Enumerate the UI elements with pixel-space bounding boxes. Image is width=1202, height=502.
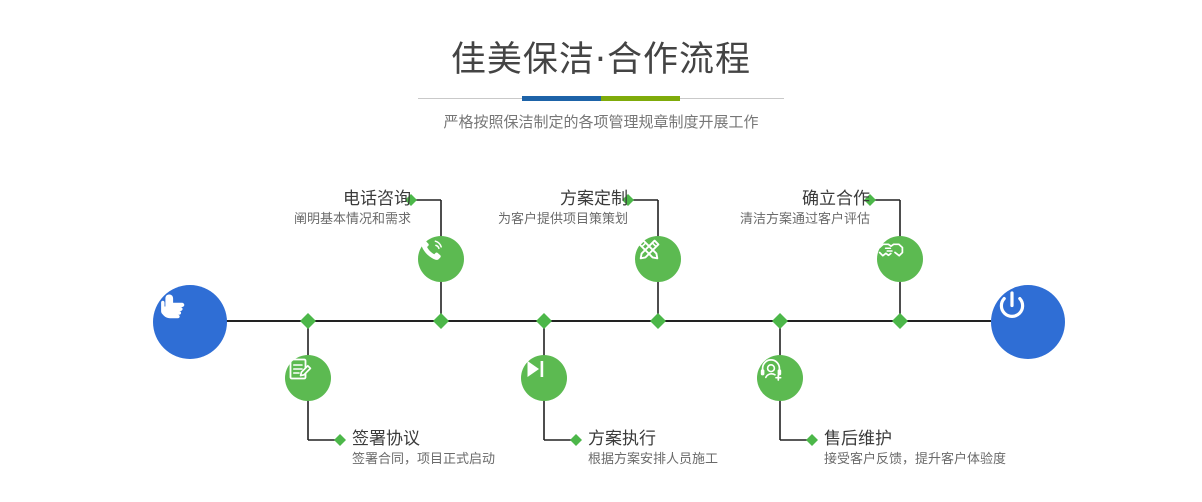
step-icon-phone-consultation[interactable] xyxy=(418,236,464,282)
step-desc: 阐明基本情况和需求 xyxy=(245,210,411,230)
spine-diamond-3 xyxy=(536,313,552,329)
spine-diamond-1 xyxy=(300,313,316,329)
label-diamond-6 xyxy=(806,434,818,446)
spine-diamond-6 xyxy=(892,313,908,329)
step-title: 售后维护 xyxy=(824,428,1074,450)
infographic-root: 佳美保洁·合作流程 严格按照保洁制定的各项管理规章制度开展工作 xyxy=(0,0,1202,502)
spine-diamond-4 xyxy=(650,313,666,329)
step-label-after-sales-support: 售后维护 接受客户反馈，提升客户体验度 xyxy=(824,428,1074,470)
step-label-plan-execution: 方案执行 根据方案安排人员施工 xyxy=(588,428,798,470)
spine-diamond-2 xyxy=(433,313,449,329)
spine-diamond-5 xyxy=(772,313,788,329)
step-desc: 接受客户反馈，提升客户体验度 xyxy=(824,450,1074,470)
flow-end-node[interactable] xyxy=(991,285,1065,359)
step-label-plan-customization: 方案定制 为客户提供项目策策划 xyxy=(455,188,628,230)
pencil-ruler-icon xyxy=(635,236,663,264)
flow-connectors xyxy=(0,0,1202,502)
step-title: 签署协议 xyxy=(352,428,572,450)
flow-start-node[interactable] xyxy=(153,285,227,359)
step-title: 方案定制 xyxy=(455,188,628,210)
play-next-icon xyxy=(521,355,549,383)
step-title: 方案执行 xyxy=(588,428,798,450)
step-desc: 清洁方案通过客户评估 xyxy=(706,210,870,230)
step-icon-establish-cooperation[interactable] xyxy=(877,236,923,282)
step-title: 确立合作 xyxy=(706,188,870,210)
step-label-sign-agreement: 签署协议 签署合同，项目正式启动 xyxy=(352,428,572,470)
handshake-icon xyxy=(877,236,905,264)
hand-pointing-icon xyxy=(153,285,195,327)
step-label-establish-cooperation: 确立合作 清洁方案通过客户评估 xyxy=(706,188,870,230)
document-edit-icon xyxy=(285,355,313,383)
step-desc: 根据方案安排人员施工 xyxy=(588,450,798,470)
headset-support-icon xyxy=(757,355,785,383)
step-icon-sign-agreement[interactable] xyxy=(285,355,331,401)
step-icon-after-sales-support[interactable] xyxy=(757,355,803,401)
label-diamond-2 xyxy=(334,434,346,446)
power-icon xyxy=(991,285,1033,327)
phone-call-icon xyxy=(418,236,446,264)
step-desc: 签署合同，项目正式启动 xyxy=(352,450,572,470)
step-desc: 为客户提供项目策策划 xyxy=(455,210,628,230)
step-icon-plan-customization[interactable] xyxy=(635,236,681,282)
flow-diagram: 电话咨询 阐明基本情况和需求 签署协议 签署合同，项目正式启动 xyxy=(0,0,1202,502)
step-label-phone-consultation: 电话咨询 阐明基本情况和需求 xyxy=(245,188,411,230)
step-title: 电话咨询 xyxy=(245,188,411,210)
step-icon-plan-execution[interactable] xyxy=(521,355,567,401)
